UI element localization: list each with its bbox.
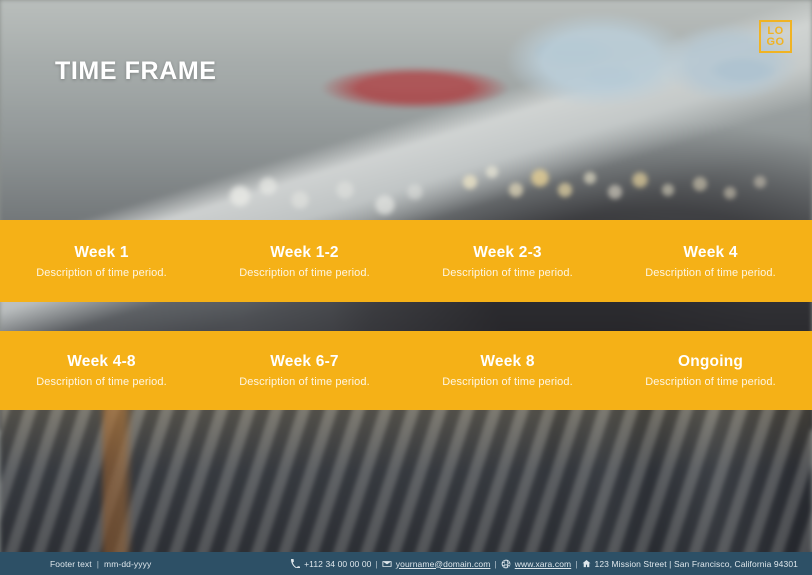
footer-left-group: Footer text | mm-dd-yyyy <box>50 559 151 569</box>
timeline-cell-title: Week 8 <box>480 353 534 371</box>
footer-address: 123 Mission Street | San Francisco, Cali… <box>595 559 798 569</box>
timeline-cell-title: Week 4 <box>683 244 737 262</box>
footer-date: mm-dd-yyyy <box>104 559 151 569</box>
footer-phone: +112 34 00 00 00 <box>304 559 371 569</box>
timeline-cell-description: Description of time period. <box>36 267 166 279</box>
timeline-cell-description: Description of time period. <box>645 376 775 388</box>
timeline-cell-title: Week 1 <box>74 244 128 262</box>
timeline-cell[interactable]: Week 4 Description of time period. <box>609 220 812 302</box>
timeline-cell-description: Description of time period. <box>239 267 369 279</box>
timeline-band-row-1: Week 1 Description of time period. Week … <box>0 220 812 302</box>
background-photo-bottom <box>0 400 812 575</box>
timeline-band-row-2: Week 4-8 Description of time period. Wee… <box>0 331 812 410</box>
footer-contact-group: +112 34 00 00 00 | yourname@domain.com |… <box>291 559 798 569</box>
timeline-cell[interactable]: Week 4-8 Description of time period. <box>0 331 203 410</box>
footer-email-link[interactable]: yourname@domain.com <box>396 559 491 569</box>
timeline-cell-description: Description of time period. <box>239 376 369 388</box>
timeline-cell-title: Week 1-2 <box>270 244 339 262</box>
footer-website-link[interactable]: www.xara.com <box>515 559 571 569</box>
timeline-cell[interactable]: Week 1 Description of time period. <box>0 220 203 302</box>
timeline-cell-description: Description of time period. <box>442 267 572 279</box>
timeline-cell-description: Description of time period. <box>645 267 775 279</box>
footer-separator: | <box>97 559 99 569</box>
globe-icon <box>501 559 511 569</box>
timeline-cell[interactable]: Week 6-7 Description of time period. <box>203 331 406 410</box>
home-icon <box>582 559 591 568</box>
timeline-cell-title: Ongoing <box>678 353 743 371</box>
logo-placeholder[interactable]: LO GO <box>759 20 792 53</box>
footer-separator: | <box>375 559 377 569</box>
footer-text: Footer text <box>50 559 92 569</box>
timeline-cell-description: Description of time period. <box>442 376 572 388</box>
timeline-cell-title: Week 2-3 <box>473 244 542 262</box>
logo-line-1: LO <box>767 26 783 37</box>
slide-canvas: LO GO TIME FRAME Week 1 Description of t… <box>0 0 812 575</box>
footer-separator: | <box>494 559 496 569</box>
timeline-cell-description: Description of time period. <box>36 376 166 388</box>
envelope-icon <box>382 559 392 569</box>
footer-separator: | <box>575 559 577 569</box>
timeline-cell-title: Week 6-7 <box>270 353 339 371</box>
page-title: TIME FRAME <box>55 57 217 86</box>
logo-line-2: GO <box>766 37 784 48</box>
timeline-cell[interactable]: Week 8 Description of time period. <box>406 331 609 410</box>
timeline-cell[interactable]: Ongoing Description of time period. <box>609 331 812 410</box>
timeline-cell-title: Week 4-8 <box>67 353 136 371</box>
footer-bar: Footer text | mm-dd-yyyy +112 34 00 00 0… <box>0 552 812 575</box>
phone-icon <box>291 559 300 568</box>
timeline-cell[interactable]: Week 1-2 Description of time period. <box>203 220 406 302</box>
timeline-cell[interactable]: Week 2-3 Description of time period. <box>406 220 609 302</box>
